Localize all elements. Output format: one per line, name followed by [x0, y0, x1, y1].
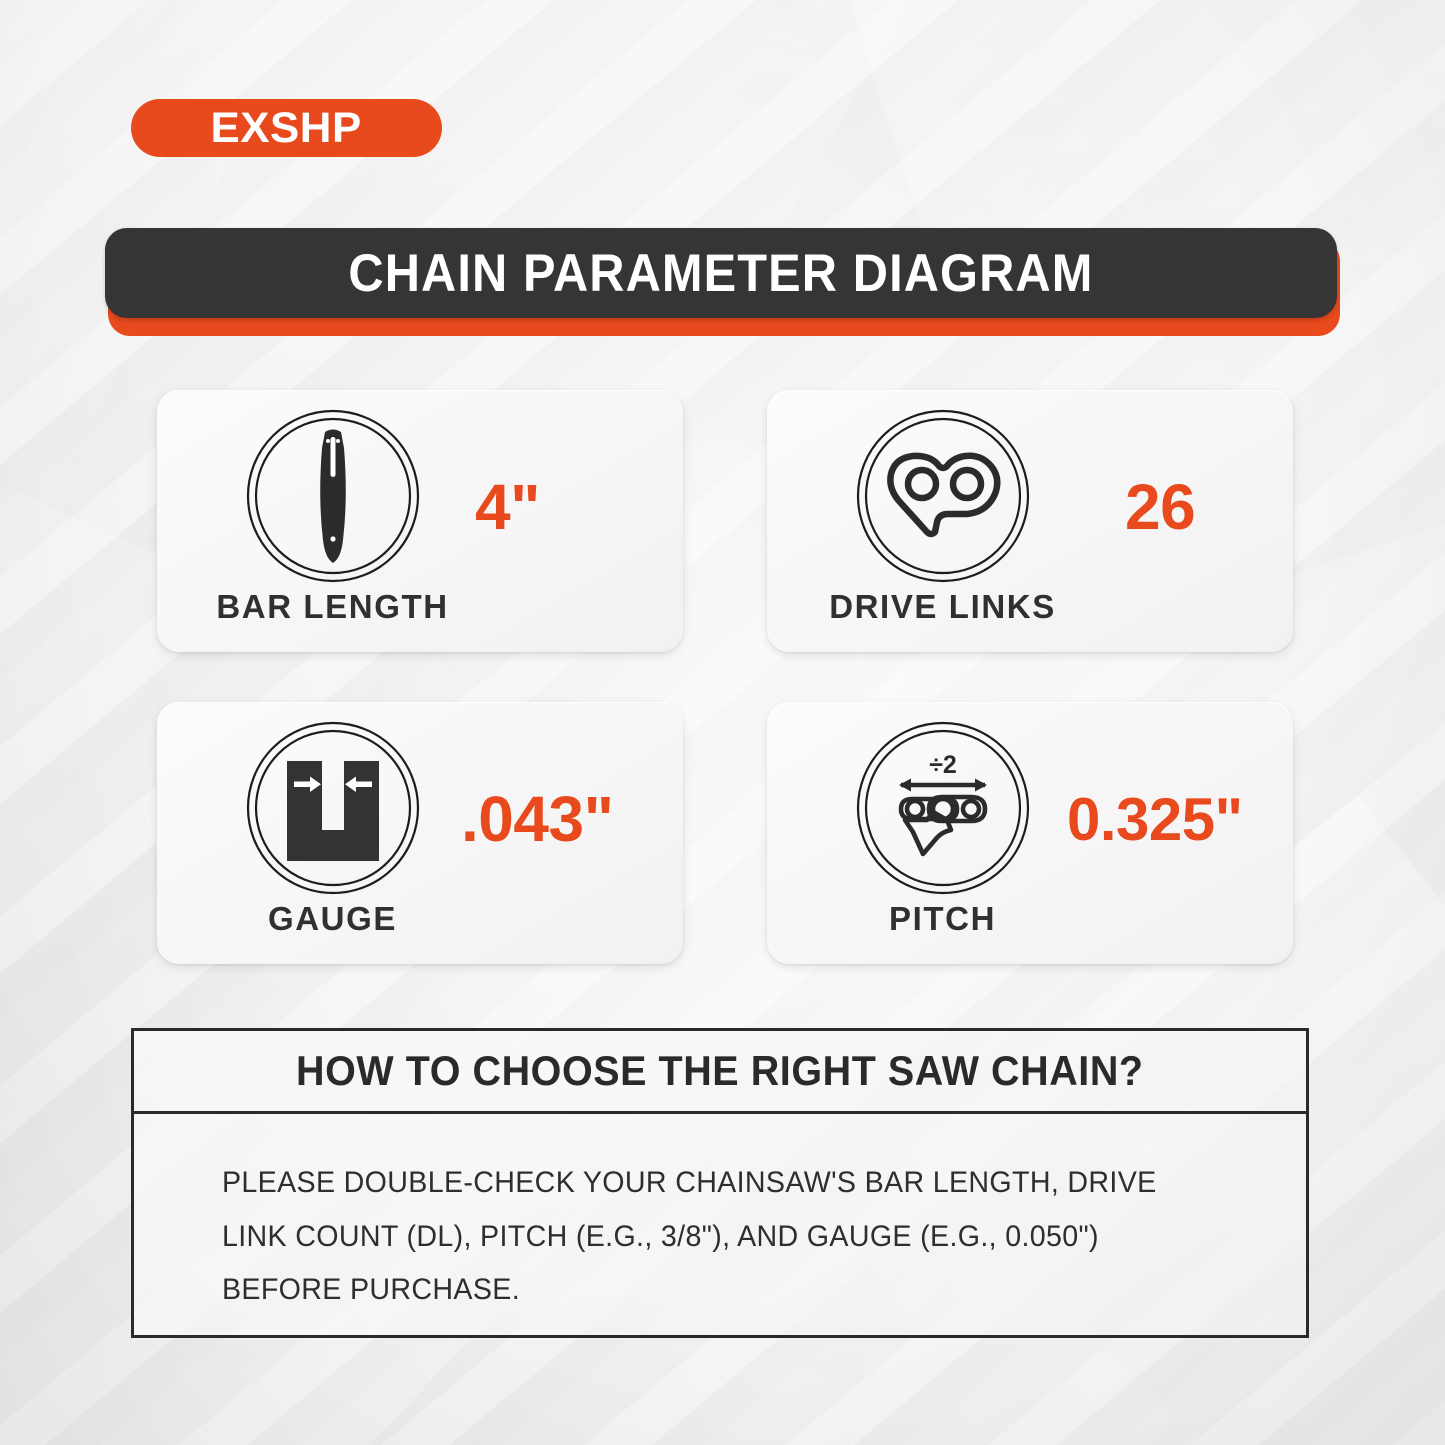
how-to-choose-heading: HOW TO CHOOSE THE RIGHT SAW CHAIN?: [296, 1047, 1144, 1095]
how-to-choose-body: PLEASE DOUBLE-CHECK YOUR CHAINSAW'S BAR …: [134, 1114, 1306, 1317]
parameter-card-pitch: ÷2 PITCH 0.325": [767, 702, 1293, 964]
card-value: .043": [457, 702, 672, 964]
drive-links-icon-column: DRIVE LINKS: [825, 408, 1060, 626]
chain-pitch-icon: ÷2: [855, 720, 1031, 896]
brand-logo: EXSHP: [131, 99, 442, 157]
header-banner: CHAIN PARAMETER DIAGRAM: [105, 228, 1340, 336]
card-label: DRIVE LINKS: [829, 588, 1056, 626]
parameter-card-bar-length: BAR LENGTH 4": [157, 390, 683, 652]
gauge-groove-icon: [245, 720, 421, 896]
card-label: PITCH: [889, 900, 996, 938]
bar-length-icon-column: BAR LENGTH: [215, 408, 450, 626]
chainsaw-bar-icon: [245, 408, 421, 584]
brand-logo-text: EXSHP: [211, 104, 362, 153]
drive-link-icon: [855, 408, 1031, 584]
card-value: 4": [457, 390, 672, 652]
parameter-card-drive-links: DRIVE LINKS 26: [767, 390, 1293, 652]
card-label: BAR LENGTH: [216, 588, 448, 626]
svg-text:÷2: ÷2: [929, 751, 957, 779]
header-banner-body: CHAIN PARAMETER DIAGRAM: [105, 228, 1337, 318]
pitch-icon-column: ÷2 PITCH: [825, 720, 1060, 938]
card-label: GAUGE: [268, 900, 397, 938]
how-to-choose-box: HOW TO CHOOSE THE RIGHT SAW CHAIN? PLEAS…: [131, 1028, 1309, 1338]
how-to-choose-paragraph: PLEASE DOUBLE-CHECK YOUR CHAINSAW'S BAR …: [222, 1156, 1223, 1317]
chain-parameter-infographic: EXSHP CHAIN PARAMETER DIAGRAM: [0, 0, 1445, 1445]
parameter-card-gauge: GAUGE .043": [157, 702, 683, 964]
card-value: 0.325": [1067, 702, 1282, 964]
gauge-icon-column: GAUGE: [215, 720, 450, 938]
page-title: CHAIN PARAMETER DIAGRAM: [348, 243, 1093, 304]
how-to-choose-header: HOW TO CHOOSE THE RIGHT SAW CHAIN?: [134, 1031, 1306, 1114]
card-value: 26: [1067, 390, 1282, 652]
